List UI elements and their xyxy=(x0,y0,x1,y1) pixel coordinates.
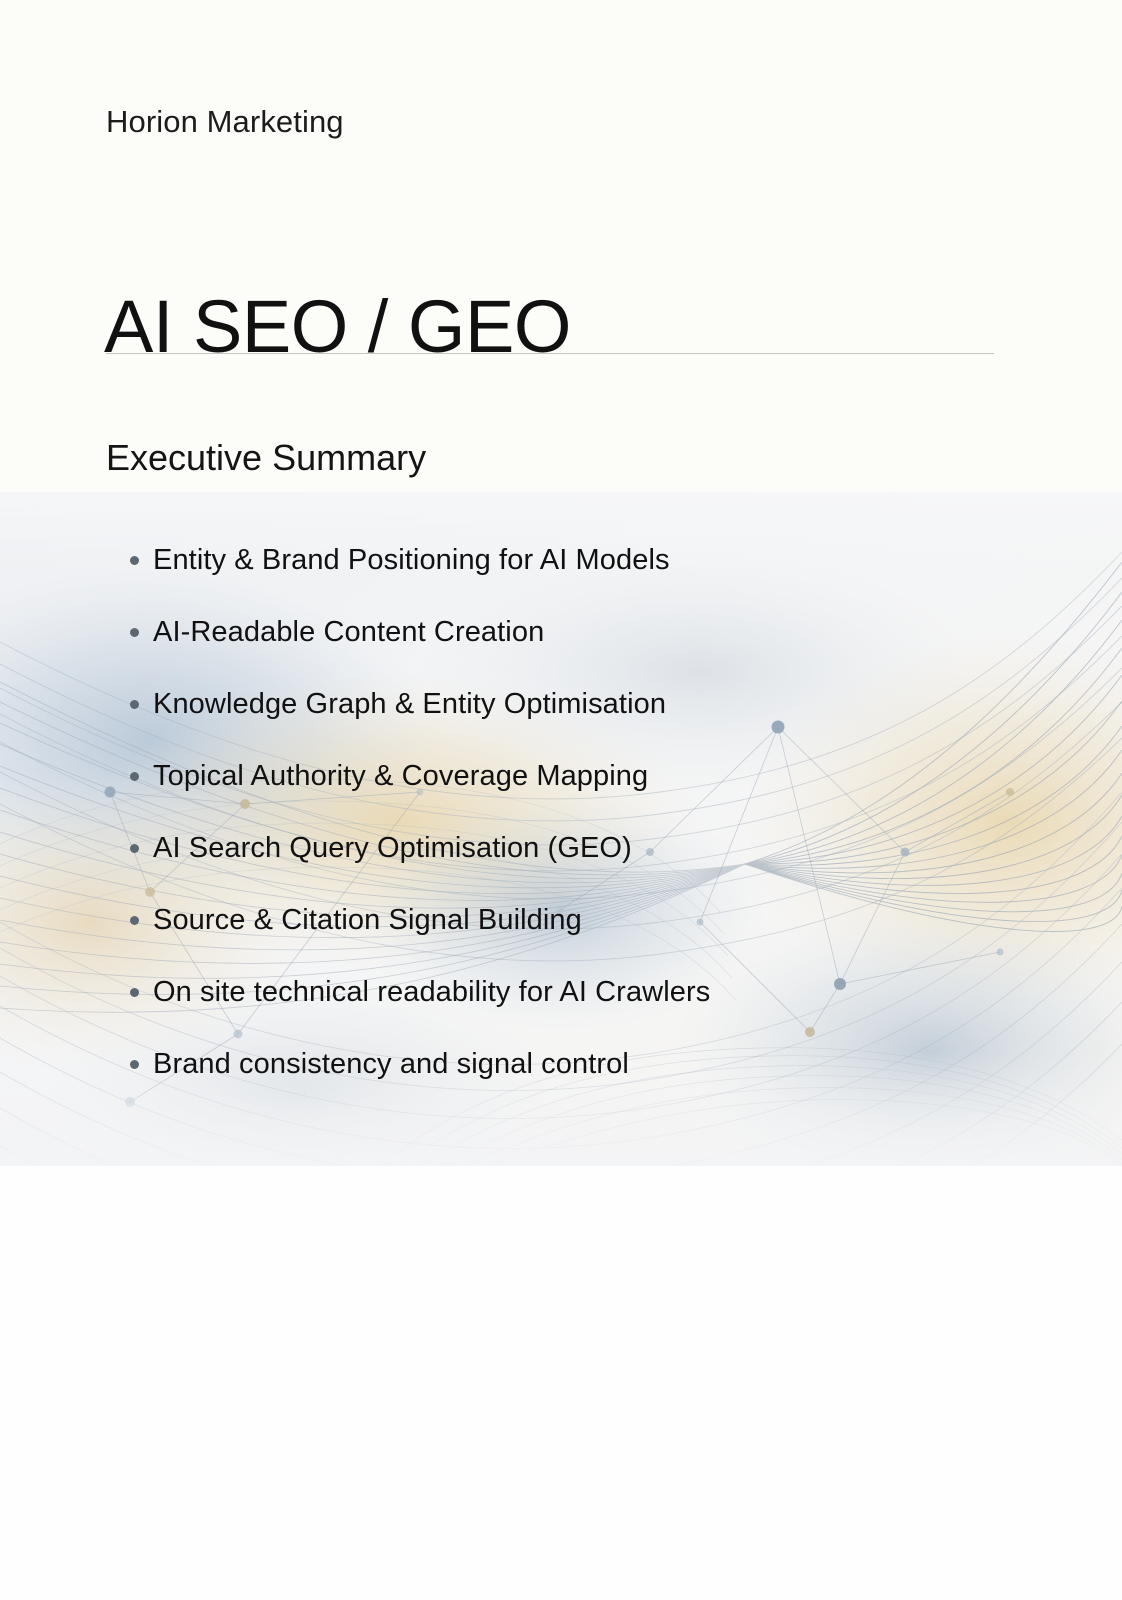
list-item-label: Knowledge Graph & Entity Optimisation xyxy=(153,687,666,722)
list-item-label: Entity & Brand Positioning for AI Models xyxy=(153,543,670,578)
header-background xyxy=(0,0,1122,492)
bullet-marker-icon xyxy=(130,844,139,853)
list-item[interactable]: Knowledge Graph & Entity Optimisation xyxy=(130,687,666,722)
bullet-marker-icon xyxy=(130,556,139,565)
list-item-label: Brand consistency and signal control xyxy=(153,1047,629,1082)
list-item-label: Source & Citation Signal Building xyxy=(153,903,582,938)
list-item[interactable]: AI-Readable Content Creation xyxy=(130,615,544,650)
list-item[interactable]: AI Search Query Optimisation (GEO) xyxy=(130,831,632,866)
list-item-label: AI-Readable Content Creation xyxy=(153,615,544,650)
bullet-marker-icon xyxy=(130,628,139,637)
list-item[interactable]: Topical Authority & Coverage Mapping xyxy=(130,759,648,794)
brand-name: Horion Marketing xyxy=(106,103,344,140)
list-item-label: On site technical readability for AI Cra… xyxy=(153,975,710,1010)
bullet-marker-icon xyxy=(130,916,139,925)
bullet-marker-icon xyxy=(130,988,139,997)
list-item[interactable]: Source & Citation Signal Building xyxy=(130,903,582,938)
list-item-label: Topical Authority & Coverage Mapping xyxy=(153,759,648,794)
document-page: Horion Marketing AI SEO / GEO Executive … xyxy=(0,0,1122,1600)
section-heading: Executive Summary xyxy=(106,436,426,479)
footer-background xyxy=(0,1166,1122,1600)
bullet-marker-icon xyxy=(130,1060,139,1069)
list-item[interactable]: Entity & Brand Positioning for AI Models xyxy=(130,543,670,578)
list-item[interactable]: Brand consistency and signal control xyxy=(130,1047,629,1082)
list-item[interactable]: On site technical readability for AI Cra… xyxy=(130,975,710,1010)
bullet-marker-icon xyxy=(130,772,139,781)
list-item-label: AI Search Query Optimisation (GEO) xyxy=(153,831,632,866)
title-divider xyxy=(106,353,994,354)
bullet-marker-icon xyxy=(130,700,139,709)
